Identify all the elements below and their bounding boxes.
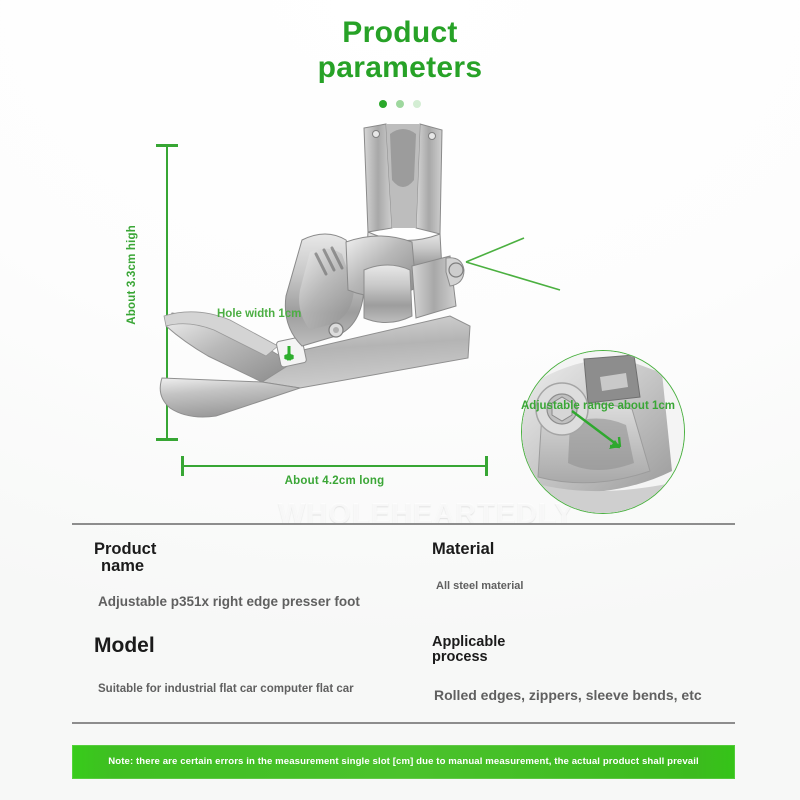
table-row: Model Suitable for industrial flat car c… — [94, 635, 424, 695]
length-dimension-line — [182, 465, 487, 467]
spec-value-model: Suitable for industrial flat car compute… — [94, 683, 424, 695]
table-row: Product name Adjustable p351x right edge… — [94, 541, 424, 609]
product-illustration: About 3.3cm high — [0, 120, 800, 510]
magnifier-detail — [521, 350, 685, 514]
page-header: Product parameters — [0, 16, 800, 108]
spec-value-material: All steel material — [432, 580, 732, 592]
table-divider-bottom — [72, 722, 735, 724]
spec-key-applicable-process: Applicable process — [432, 635, 732, 665]
adjustable-range-label: Adjustable range about 1cm — [521, 400, 675, 412]
spec-key-product-name: Product name — [94, 541, 424, 575]
length-dimension-label: About 4.2cm long — [182, 475, 487, 487]
table-row: Material All steel material — [432, 541, 732, 592]
page-title-line1: Product — [342, 16, 457, 49]
magnified-screw-view — [522, 351, 684, 513]
footer-note-banner: Note: there are certain errors in the me… — [72, 745, 735, 779]
spec-value-product-name: Adjustable p351x right edge presser foot — [94, 594, 424, 609]
footer-note-text: Note: there are certain errors in the me… — [86, 756, 721, 769]
table-divider-top — [72, 523, 735, 525]
dimension-cap-left — [181, 456, 184, 476]
page-title-line2: parameters — [0, 51, 800, 86]
dot-indicator-3[interactable] — [413, 100, 421, 108]
carousel-dots — [0, 100, 800, 108]
spec-key-model: Model — [94, 635, 424, 656]
table-row: Applicable process Rolled edges, zippers… — [432, 635, 732, 703]
spec-value-applicable-process: Rolled edges, zippers, sleeve bends, etc — [432, 687, 732, 703]
dimension-cap-right — [485, 456, 488, 476]
spec-key-material: Material — [432, 541, 732, 558]
product-parameters-page: Product parameters About 3.3cm high — [0, 0, 800, 800]
page-title: Product parameters — [0, 16, 800, 86]
dot-indicator-2[interactable] — [396, 100, 404, 108]
spec-table: Product name Adjustable p351x right edge… — [72, 533, 735, 721]
dot-indicator-1[interactable] — [379, 100, 387, 108]
